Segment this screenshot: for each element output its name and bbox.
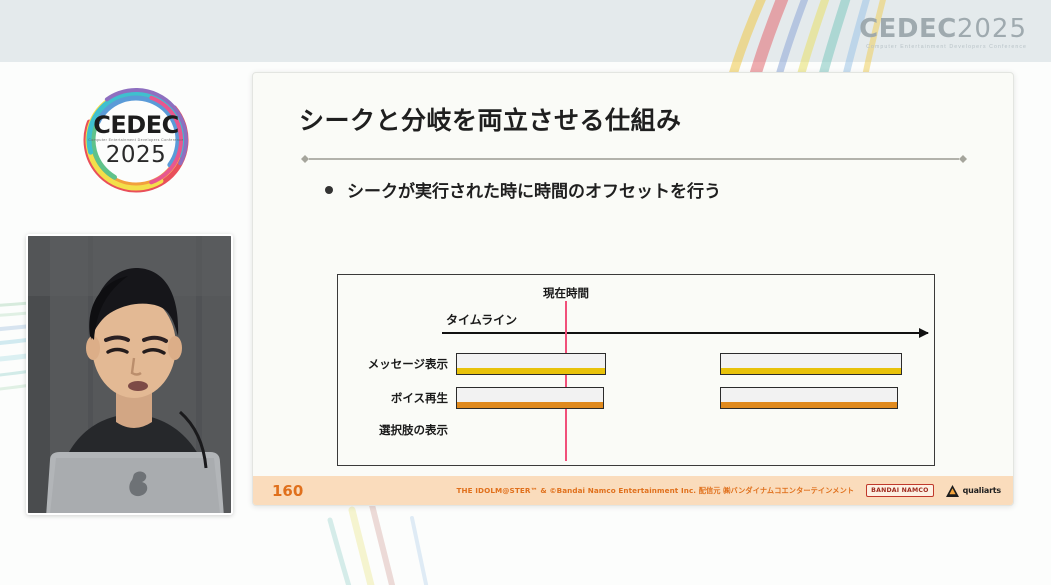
screen-capture: CEDEC2025 Computer Entertainment Develop… xyxy=(0,0,1051,585)
presenter-image xyxy=(28,236,233,515)
current-time-line xyxy=(565,301,567,461)
bandai-namco-logo: BANDAI NAMCO xyxy=(866,484,933,497)
cedec-circle-badge: CEDEC Computer Entertainment Developers … xyxy=(74,86,198,194)
slide-page-number: 160 xyxy=(272,482,303,500)
presenter-video[interactable] xyxy=(26,234,233,515)
bullet-item-0: シークが実行された時に時間のオフセットを行う xyxy=(325,177,721,202)
diagram-row-label-1: ボイス再生 xyxy=(338,390,448,406)
timeline-label: タイムライン xyxy=(446,311,517,328)
qualiarts-logo: qualiarts xyxy=(946,485,1001,497)
current-time-label: 現在時間 xyxy=(506,285,626,301)
message-bar-1-strip xyxy=(721,368,901,374)
voice-bar-0-strip xyxy=(457,402,603,408)
timeline-axis-arrow xyxy=(442,332,928,334)
title-divider xyxy=(293,153,975,165)
badge-year: 2025 xyxy=(106,144,167,167)
qualiarts-triangle-icon xyxy=(946,485,959,497)
diagram-row-label-2: 選択肢の表示 xyxy=(338,422,448,438)
timeline-diagram: 現在時間 タイムライン メッセージ表示 ボイス再生 xyxy=(337,274,935,466)
message-bar-0-strip xyxy=(457,368,605,374)
presentation-slide: シークと分岐を両立させる仕組み シークが実行された時に時間のオフセットを行う 現… xyxy=(252,72,1014,506)
qualiarts-text: qualiarts xyxy=(963,486,1001,495)
cedec-top-year: 2025 xyxy=(957,14,1027,44)
cedec-top-logo: CEDEC2025 Computer Entertainment Develop… xyxy=(859,16,1027,50)
voice-bar-0 xyxy=(456,387,604,409)
voice-bar-1-strip xyxy=(721,402,897,408)
diagram-row-label-0: メッセージ表示 xyxy=(338,356,448,372)
message-bar-1 xyxy=(720,353,902,375)
copyright-text: THE IDOLM@STER™ & ©Bandai Namco Entertai… xyxy=(457,486,855,496)
bullet-dot-icon xyxy=(325,186,333,194)
badge-cedec-word: CEDEC xyxy=(93,113,178,137)
cedec-top-subtitle: Computer Entertainment Developers Confer… xyxy=(859,45,1027,50)
bullet-text-0: シークが実行された時に時間のオフセットを行う xyxy=(347,177,721,202)
slide-title: シークと分岐を両立させる仕組み xyxy=(299,101,682,137)
voice-bar-1 xyxy=(720,387,898,409)
message-bar-0 xyxy=(456,353,606,375)
cedec-top-word: CEDEC xyxy=(859,14,957,44)
slide-footer: 160 THE IDOLM@STER™ & ©Bandai Namco Ente… xyxy=(253,476,1014,505)
